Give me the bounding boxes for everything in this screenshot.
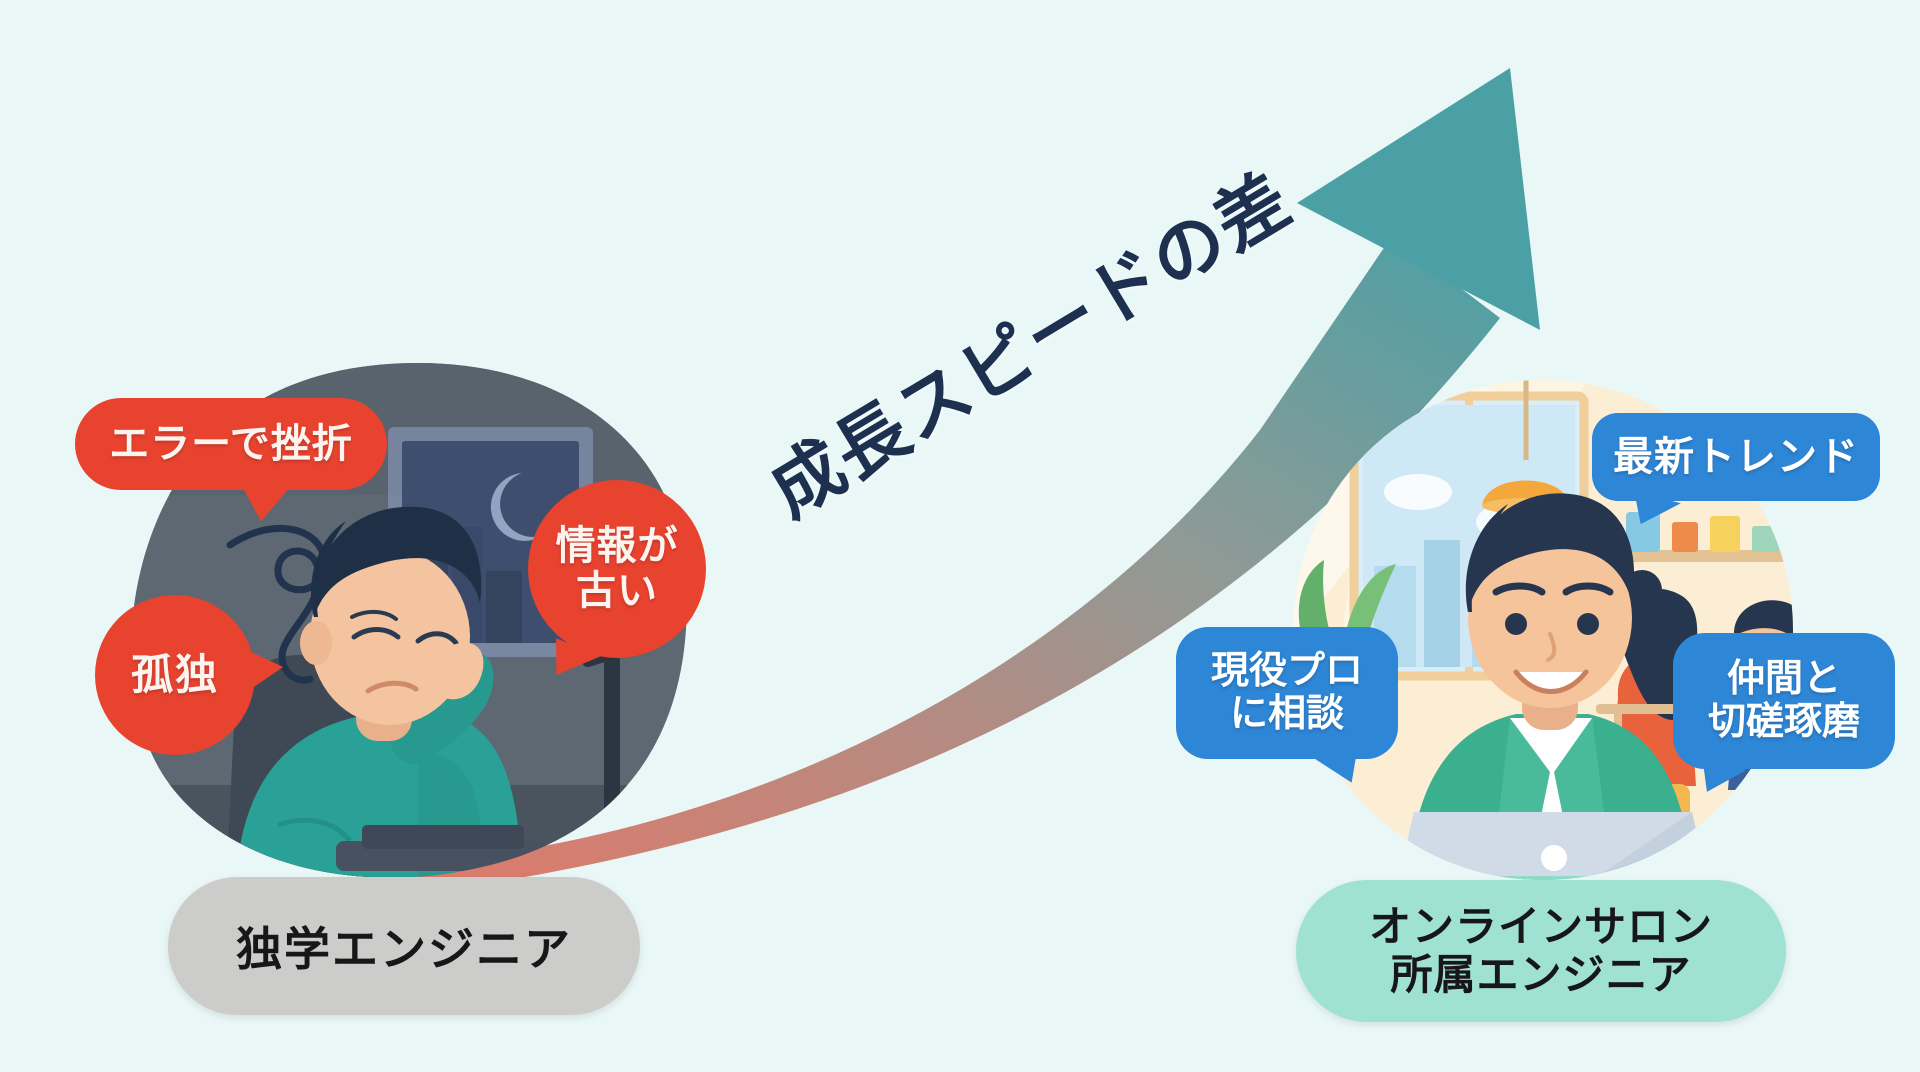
bubble-outdated-info-line-1: 情報が [556,524,679,569]
bubble-error-line-1: エラーで挫折 [109,422,353,467]
bubble-outdated-info: 情報が 古い [528,480,706,658]
bubble-latest-trend-line-1: 最新トレンド [1613,435,1859,480]
bubble-alone: 孤独 [95,595,255,755]
label-salon-engineer-line-2: 所属エンジニア [1390,951,1691,999]
bubble-peers-line-1: 仲間と [1727,658,1841,701]
bubble-peers: 仲間と 切磋琢磨 [1673,633,1895,769]
label-self-taught-engineer-text: 独学エンジニア [236,913,572,979]
label-salon-engineer: オンラインサロン 所属エンジニア [1296,880,1786,1022]
bubble-latest-trend: 最新トレンド [1592,413,1880,501]
bubble-alone-tail [245,649,283,693]
label-salon-engineer-line-1: オンラインサロン [1369,903,1713,951]
bubble-error: エラーで挫折 [75,398,387,490]
bubble-alone-line-1: 孤独 [131,651,219,698]
bubble-peers-line-2: 切磋琢磨 [1708,701,1860,744]
bubble-error-tail [241,479,301,523]
arrow-label: 成長スピードの差 [747,168,1264,536]
label-self-taught-engineer: 独学エンジニア [168,877,640,1015]
bubble-consult-pro: 現役プロ に相談 [1176,627,1398,759]
infographic-canvas: 成長スピードの差 [0,0,1920,1072]
bubble-outdated-info-line-2: 古い [576,569,658,614]
bubble-consult-pro-line-2: に相談 [1230,693,1344,736]
bubble-consult-pro-line-1: 現役プロ [1211,650,1363,693]
